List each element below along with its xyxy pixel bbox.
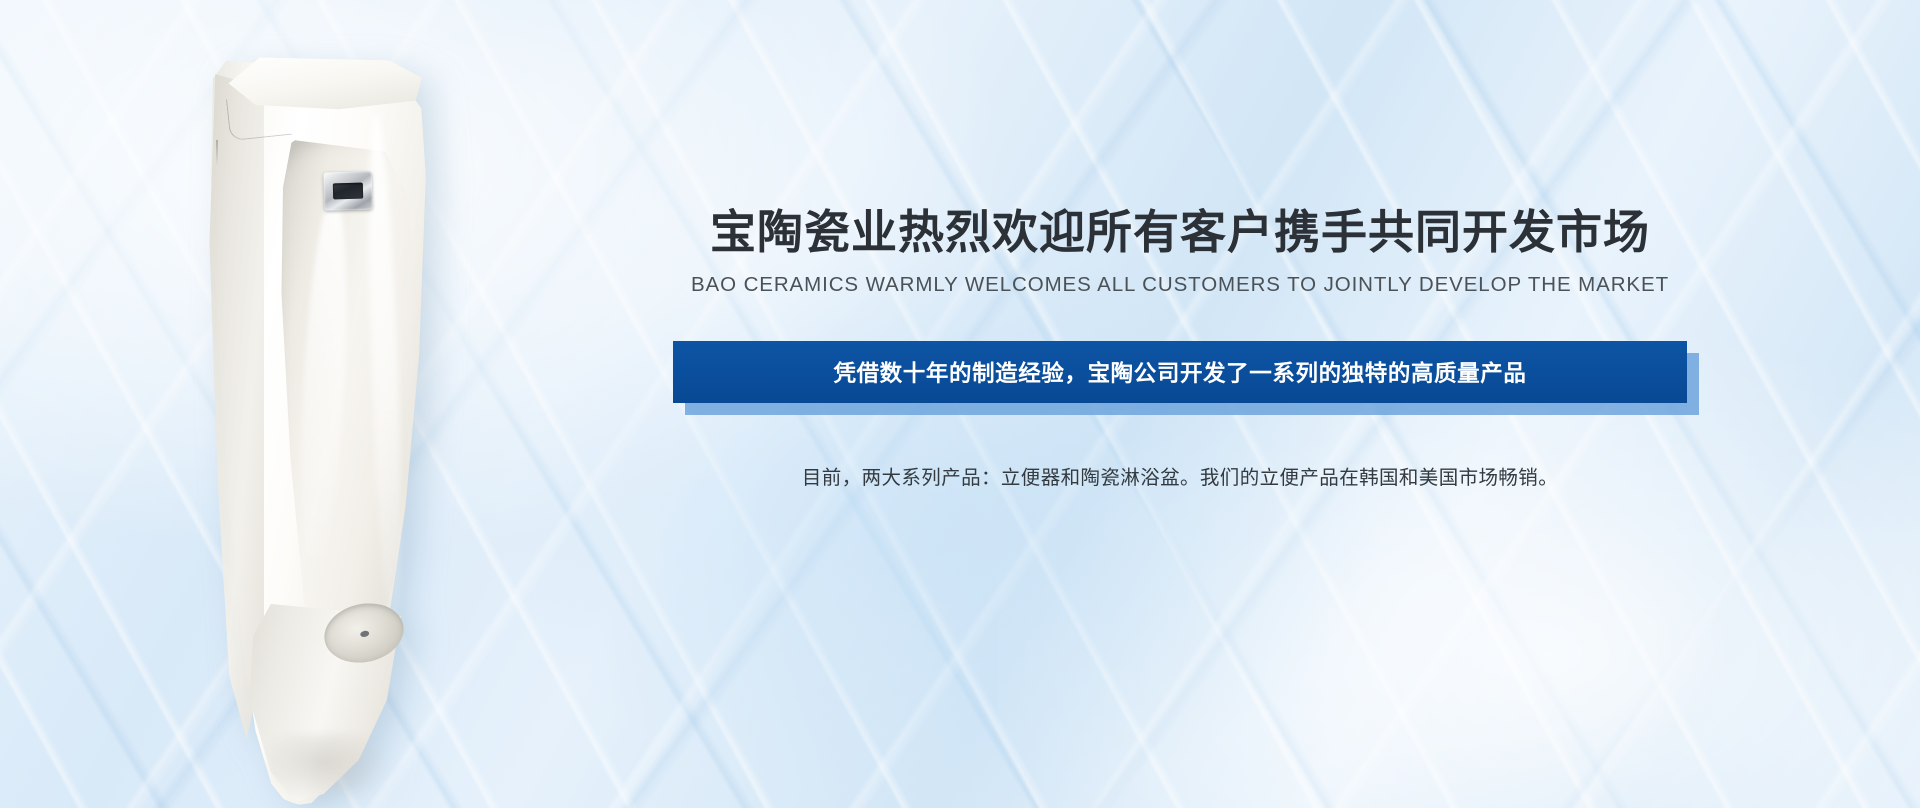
sensor-plate bbox=[324, 171, 373, 210]
urinal-drain-hole bbox=[360, 630, 370, 638]
footnote-text: 目前，两大系列产品：立便器和陶瓷淋浴盆。我们的立便产品在韩国和美国市场畅销。 bbox=[590, 461, 1770, 490]
headline-english: BAO CERAMICS WARMLY WELCOMES ALL CUSTOME… bbox=[590, 273, 1770, 297]
tagline-banner-bar: 凭借数十年的制造经验，宝陶公司开发了一系列的独特的高质量产品 bbox=[673, 341, 1687, 403]
headline-chinese: 宝陶瓷业热烈欢迎所有客户携手共同开发市场 bbox=[590, 205, 1770, 259]
urinal-rim-crease-line bbox=[226, 93, 292, 141]
urinal-bottom-shading bbox=[268, 734, 388, 804]
urinal-illustration bbox=[176, 44, 448, 808]
promo-banner: 宝陶瓷业热烈欢迎所有客户携手共同开发市场 BAO CERAMICS WARMLY… bbox=[0, 0, 1920, 808]
tagline-text: 凭借数十年的制造经验，宝陶公司开发了一系列的独特的高质量产品 bbox=[833, 356, 1526, 388]
product-image-urinal bbox=[176, 44, 448, 808]
urinal-rim-seam-mark bbox=[216, 140, 218, 166]
banner-copy-block: 宝陶瓷业热烈欢迎所有客户携手共同开发市场 BAO CERAMICS WARMLY… bbox=[590, 205, 1770, 490]
tagline-banner: 凭借数十年的制造经验，宝陶公司开发了一系列的独特的高质量产品 bbox=[673, 341, 1687, 403]
sensor-window-icon bbox=[333, 183, 363, 200]
